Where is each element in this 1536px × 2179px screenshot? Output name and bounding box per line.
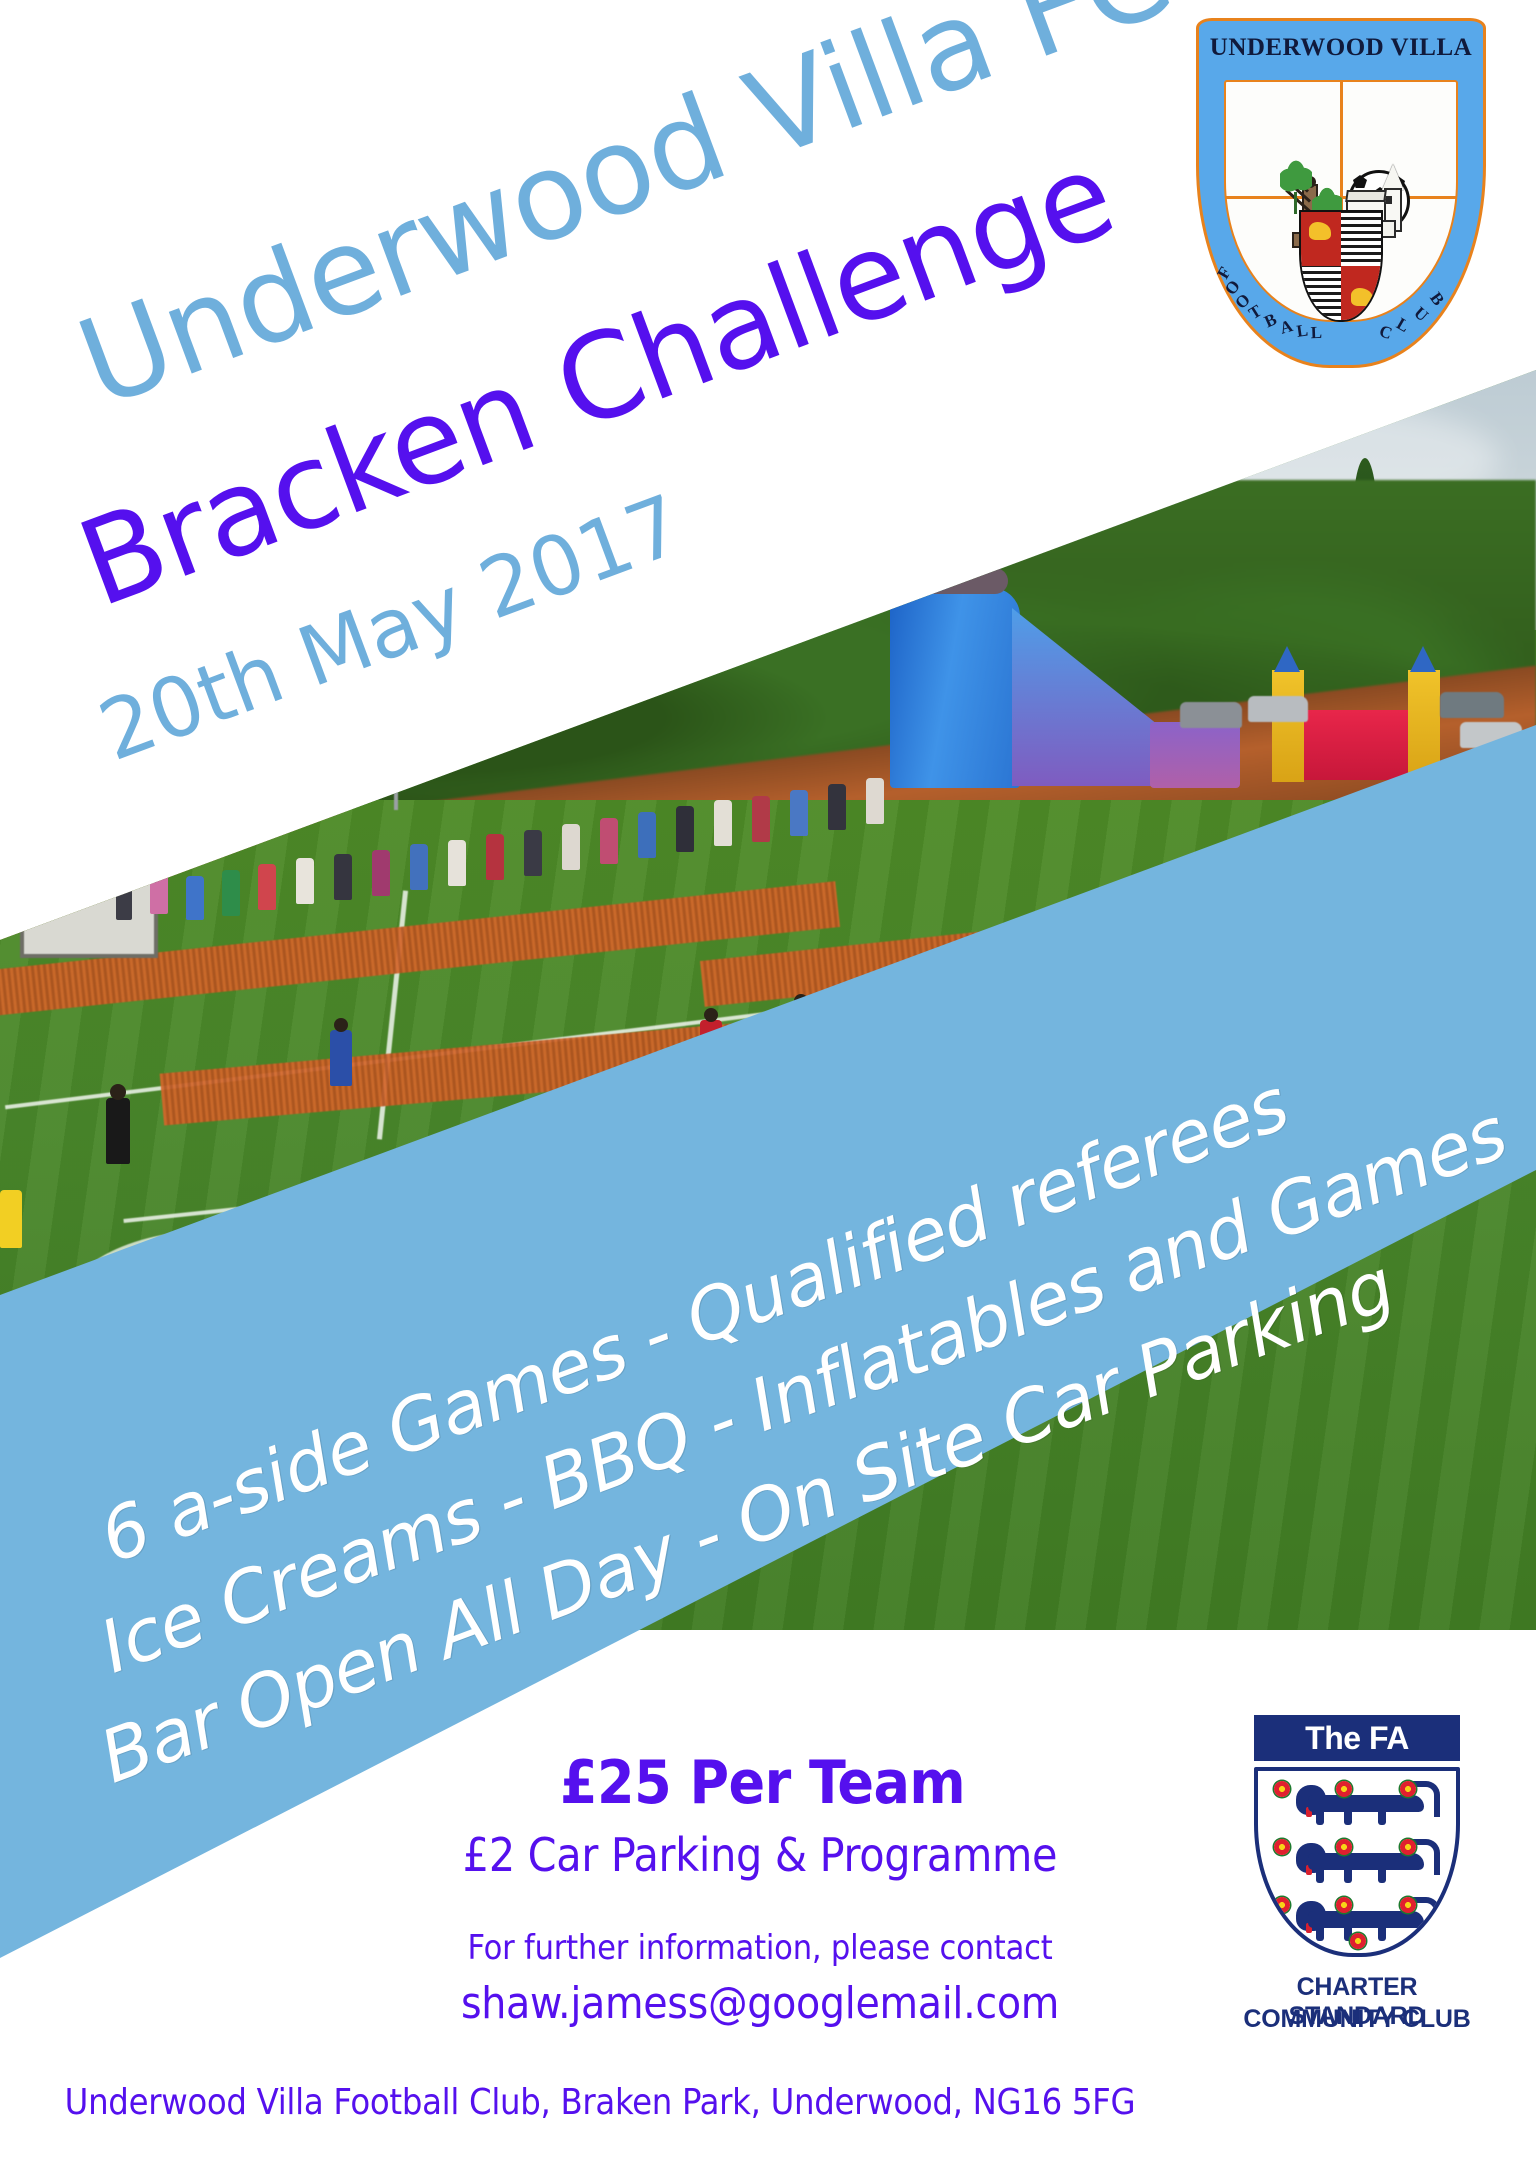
spectator [486, 834, 504, 880]
spectator [524, 830, 542, 876]
contact-label: For further information, please contact [440, 1928, 1080, 1968]
player-head [704, 1008, 718, 1022]
lion-icon [1282, 1839, 1442, 1887]
spectator [676, 806, 694, 852]
spectator [150, 870, 168, 914]
cloud [600, 350, 1120, 460]
tudor-rose-icon [1274, 1897, 1290, 1913]
referee [106, 1098, 130, 1164]
tudor-rose-icon [1400, 1781, 1416, 1797]
bouncy-castle-cone [1274, 646, 1300, 672]
bouncy-castle [1292, 710, 1420, 780]
dugout-shelter [20, 876, 158, 958]
parking-price: £2 Car Parking & Programme [440, 1828, 1080, 1882]
player [0, 1190, 22, 1248]
spectator [638, 812, 656, 858]
cloud [60, 370, 480, 490]
entry-price: £25 Per Team [560, 1748, 960, 1818]
spectator [866, 778, 884, 824]
parked-car [330, 648, 400, 676]
gazebo-post [262, 764, 266, 810]
three-lions-shield-icon [1254, 1767, 1460, 1957]
spectator [752, 796, 770, 842]
tudor-rose-icon [1400, 1839, 1416, 1855]
spectator [70, 860, 86, 906]
spectator [30, 850, 46, 894]
crest-club-text: C L U B [1370, 254, 1456, 334]
spectator [296, 858, 314, 904]
poster-canvas: Underwood Villa FC Bracken Challenge 20t… [0, 0, 1536, 2179]
inflatable-slide-top [890, 568, 1008, 594]
spectator [600, 818, 618, 864]
spectator [828, 784, 846, 830]
spectator-head [33, 840, 45, 852]
spectator [562, 824, 580, 870]
fa-band-label: The FA [1305, 1720, 1409, 1757]
tudor-rose-icon [1400, 1897, 1416, 1913]
fa-band: The FA [1254, 1715, 1460, 1761]
tudor-rose-icon [1336, 1839, 1352, 1855]
spectator [186, 876, 204, 920]
spectator [258, 864, 276, 910]
tudor-rose-icon [1350, 1933, 1366, 1949]
inflatable-slide-landing [1150, 722, 1240, 788]
lion-icon [1282, 1781, 1442, 1829]
referee-head [110, 1084, 126, 1100]
parked-car [1440, 692, 1504, 718]
gazebo-canopy [260, 742, 400, 766]
club-crest-icon: UNDERWOOD VILLA [1196, 18, 1486, 368]
crest-club-name: UNDERWOOD VILLA [1196, 34, 1486, 62]
poster-subtitle: Bracken Challenge [62, 125, 1130, 634]
tudor-rose-icon [1336, 1781, 1352, 1797]
bouncy-castle-tower [1272, 670, 1304, 782]
bouncy-castle-cone [1410, 646, 1436, 672]
marshal [470, 620, 484, 656]
contact-email[interactable]: shaw.jamess@googlemail.com [420, 1978, 1100, 2029]
spectator [334, 854, 352, 900]
gazebo-post [394, 764, 398, 810]
tudor-rose-icon [1336, 1897, 1352, 1913]
spectator [222, 870, 240, 916]
parked-car [1180, 702, 1242, 728]
player-head [334, 1018, 348, 1032]
spectator [448, 840, 466, 886]
spectator [116, 878, 132, 920]
player [330, 1030, 352, 1086]
tudor-rose-icon [1274, 1839, 1290, 1855]
fa-charter-standard-logo: The FA [1232, 1715, 1482, 2115]
spectator [410, 844, 428, 890]
spectator-head [73, 850, 85, 862]
tudor-rose-icon [1274, 1781, 1290, 1797]
parked-car [1248, 696, 1308, 722]
spectator [714, 800, 732, 846]
inflatable-slide [890, 588, 1020, 788]
poster-title: Underwood Villa FC [62, 0, 1187, 435]
spectator [372, 850, 390, 896]
fa-caption-line-2: COMMUNITY CLUB [1232, 2005, 1482, 2034]
venue-address: Underwood Villa Football Club, Braken Pa… [10, 2082, 1190, 2123]
crest-football-text: F O O T B A L L [1226, 254, 1336, 334]
spectator [790, 790, 808, 836]
